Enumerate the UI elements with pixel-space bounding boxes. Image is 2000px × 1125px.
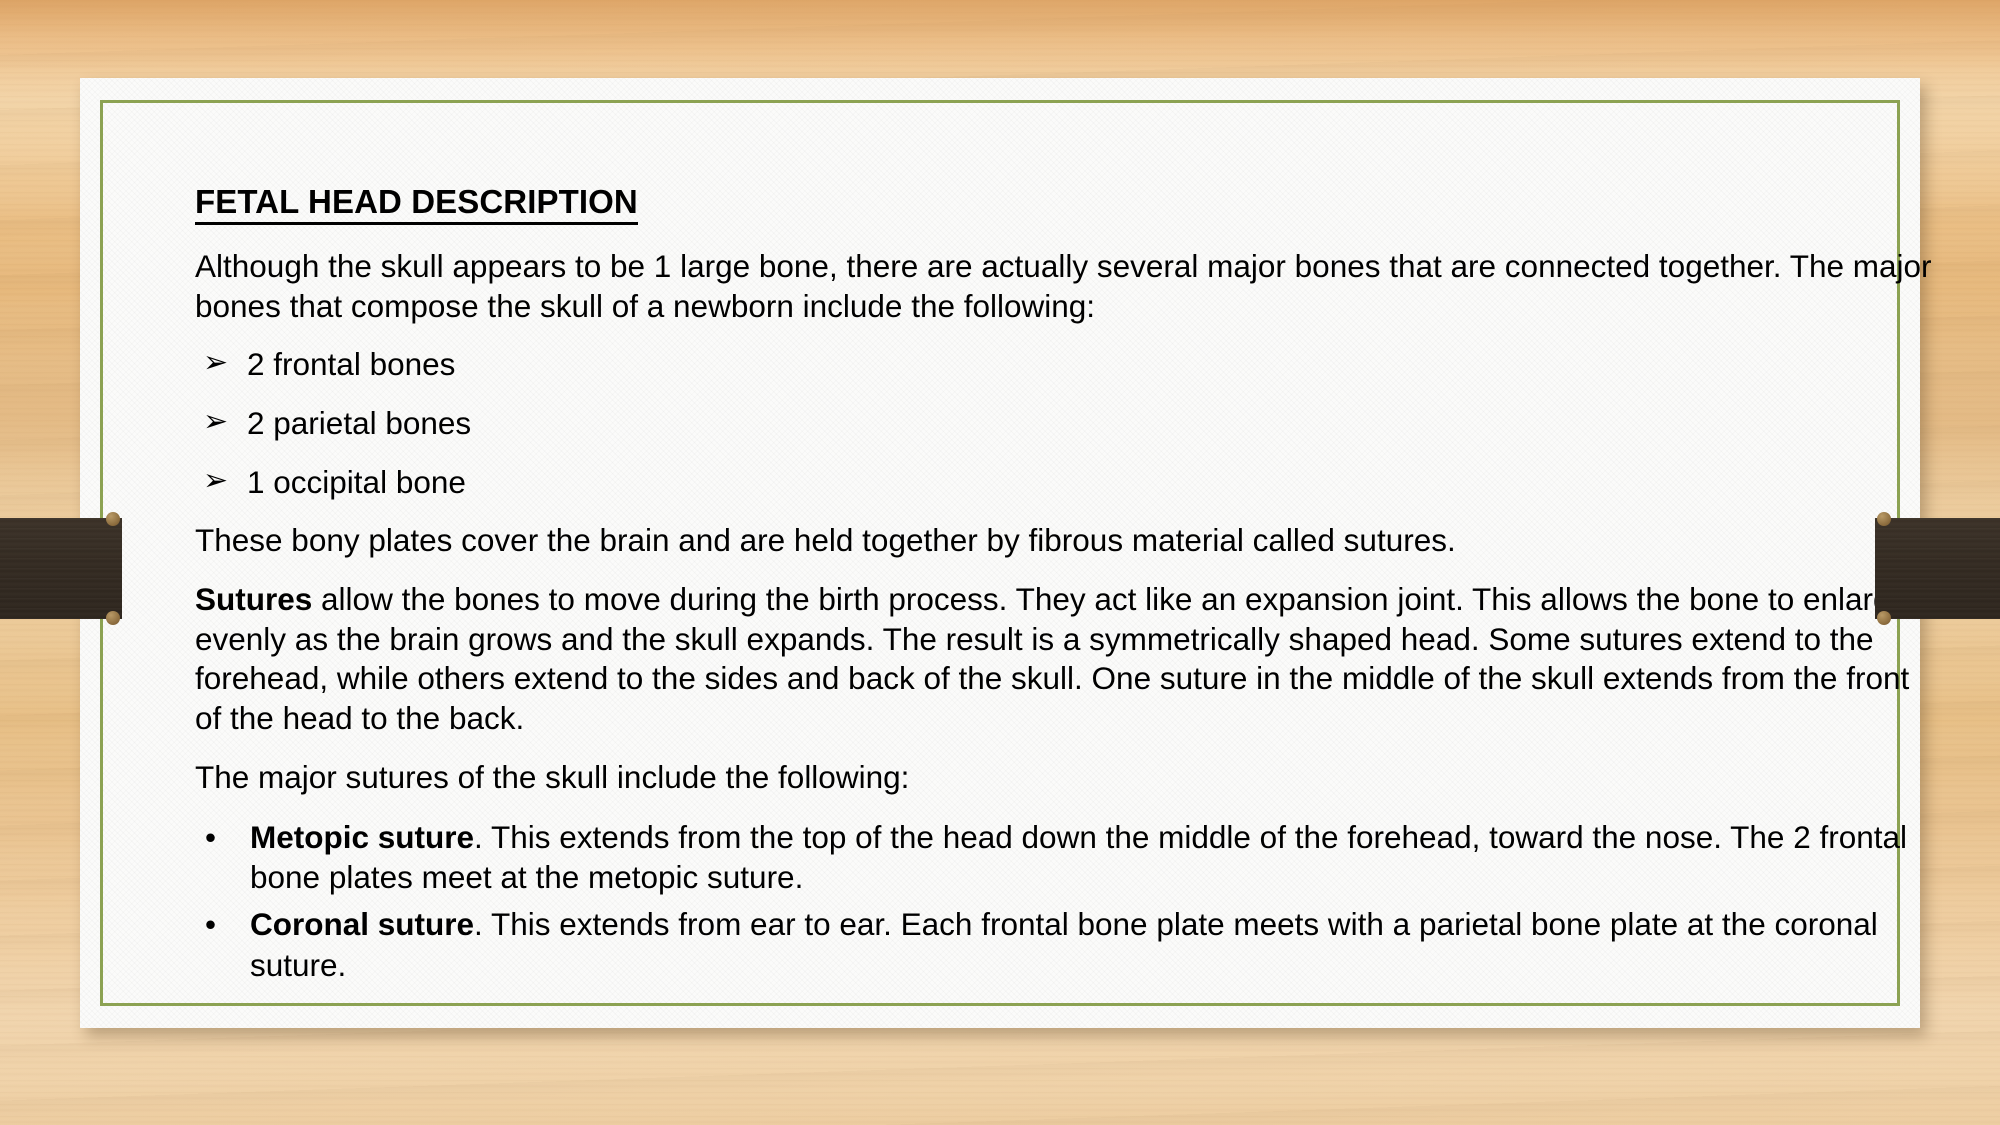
decorative-dark-bar-right [1875,518,2000,619]
sutures-lead-term: Sutures [195,581,312,617]
sutures-paragraph: Sutures allow the bones to move during t… [195,580,1935,739]
major-sutures-paragraph: The major sutures of the skull include t… [195,758,1935,798]
presentation-slide: FETAL HEAD DESCRIPTION Although the skul… [0,0,2000,1125]
suture-term: Coronal suture [250,906,474,942]
round-bullet-icon: • [205,817,216,858]
arrow-bullet-icon: ➢ [203,403,228,441]
suture-description: . This extends from ear to ear. Each fro… [250,906,1878,983]
list-item: •Coronal suture. This extends from ear t… [195,904,1950,986]
list-item: ➢ 1 occipital bone [195,463,1970,503]
list-item: ➢ 2 frontal bones [195,345,1970,385]
list-item: ➢ 2 parietal bones [195,404,1970,444]
slide-content-card: FETAL HEAD DESCRIPTION Although the skul… [80,78,1920,1028]
list-item-label: 2 frontal bones [247,346,455,382]
bone-list: ➢ 2 frontal bones ➢ 2 parietal bones ➢ 1… [195,345,1970,502]
slide-text-body: FETAL HEAD DESCRIPTION Although the skul… [195,183,1970,992]
sutures-paragraph-rest: allow the bones to move during the birth… [195,581,1909,736]
wood-band-top [0,0,2000,70]
round-bullet-icon: • [205,904,216,945]
bony-plates-paragraph: These bony plates cover the brain and ar… [195,521,1935,561]
knob-icon [1877,512,1891,526]
intro-paragraph: Although the skull appears to be 1 large… [195,247,1935,326]
page-title: FETAL HEAD DESCRIPTION [195,183,638,225]
arrow-bullet-icon: ➢ [203,462,228,500]
suture-list: •Metopic suture. This extends from the t… [195,817,1970,987]
knob-icon [106,611,120,625]
list-item-label: 2 parietal bones [247,405,471,441]
knob-icon [1877,611,1891,625]
list-item-label: 1 occipital bone [247,464,466,500]
suture-description: . This extends from the top of the head … [250,819,1907,896]
arrow-bullet-icon: ➢ [203,344,228,382]
decorative-dark-bar-left [0,518,122,619]
knob-icon [106,512,120,526]
list-item: •Metopic suture. This extends from the t… [195,817,1950,899]
suture-term: Metopic suture [250,819,474,855]
